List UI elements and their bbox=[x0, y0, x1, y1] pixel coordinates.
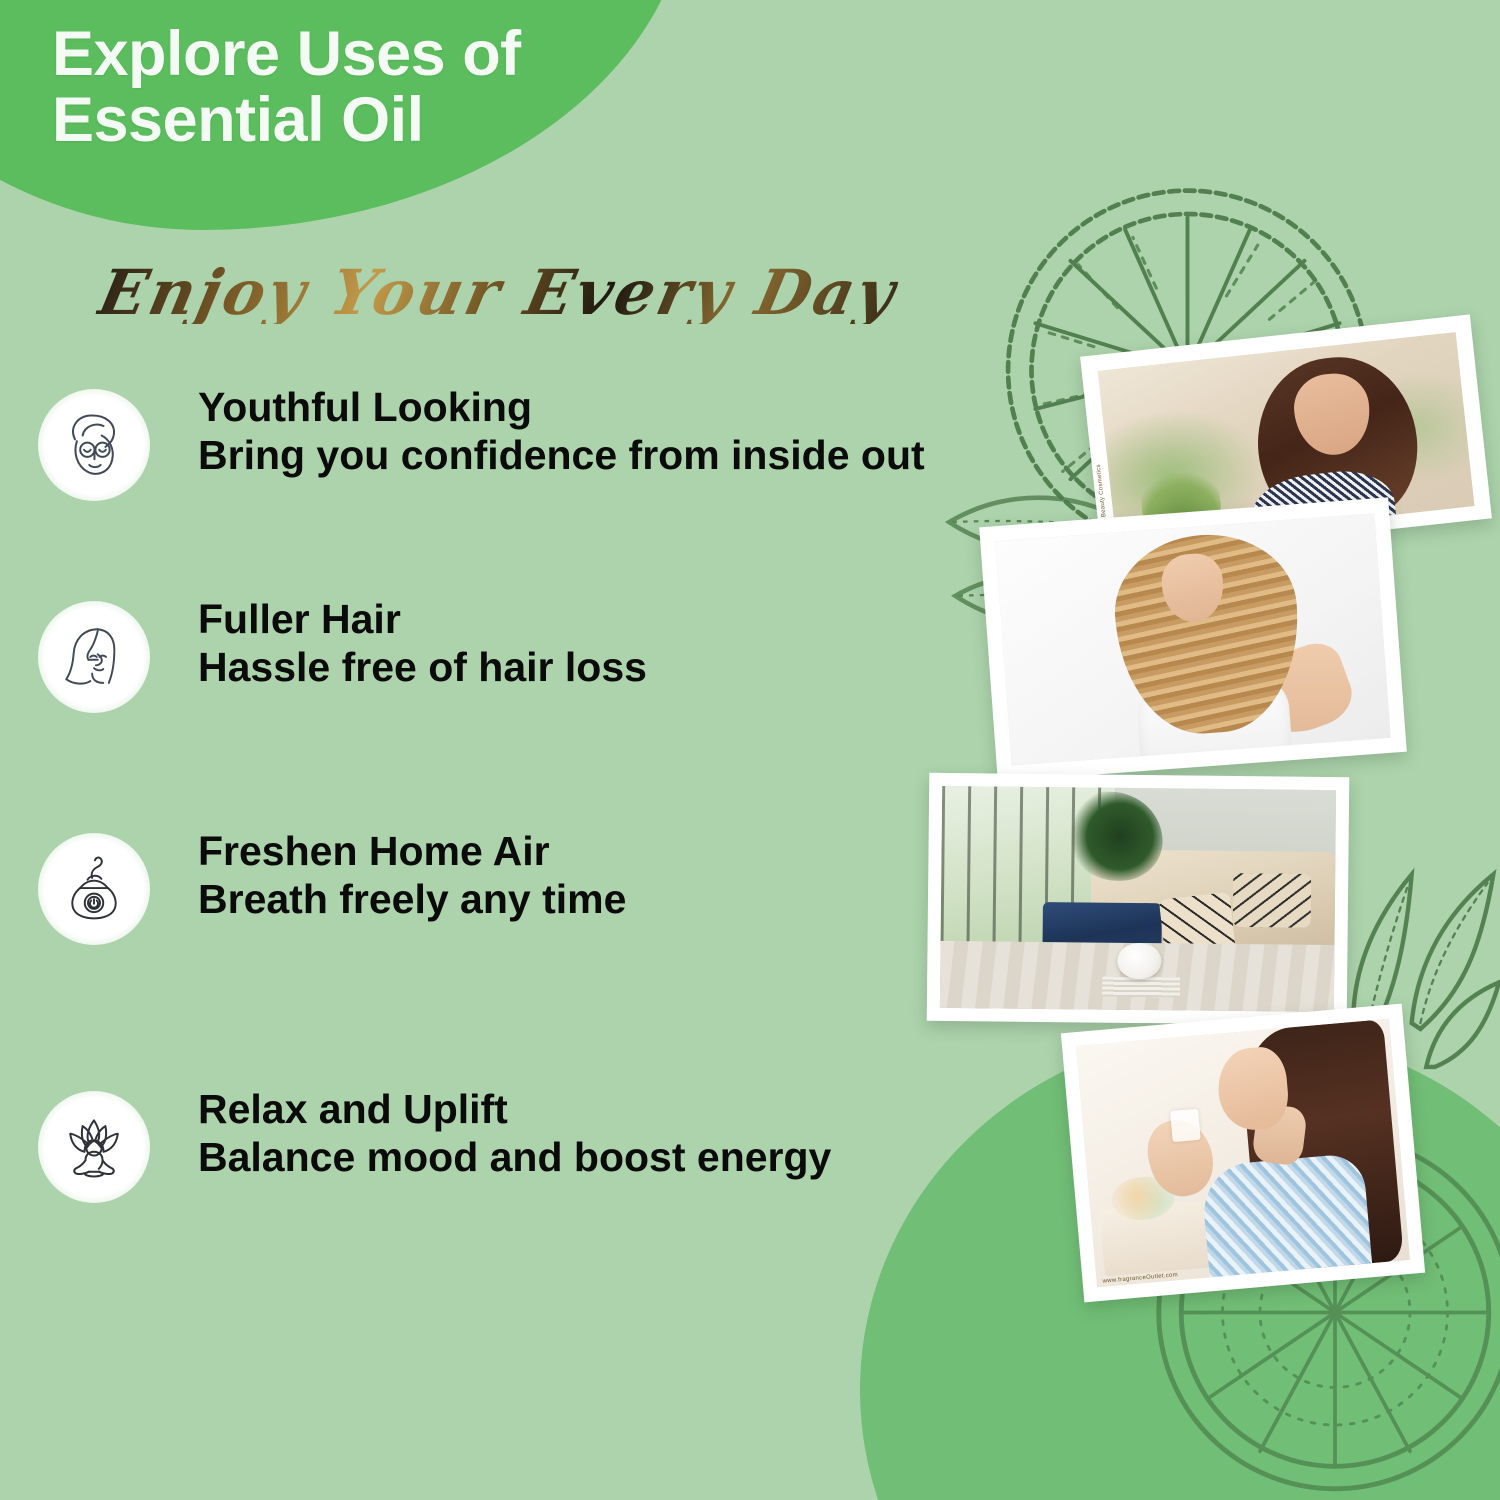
feature-title: Fuller Hair bbox=[198, 595, 647, 643]
long-hair-profile-icon bbox=[38, 601, 150, 713]
feature-item-freshen-home-air: Freshen Home Air Breath freely any time bbox=[0, 819, 1060, 1077]
feature-title: Relax and Uplift bbox=[198, 1085, 831, 1133]
face-mask-icon bbox=[38, 389, 150, 501]
feature-text-fuller-hair: Fuller Hair Hassle free of hair loss bbox=[198, 595, 647, 692]
feature-list: Youthful Looking Bring you confidence fr… bbox=[0, 375, 1060, 1309]
feature-title: Freshen Home Air bbox=[198, 827, 626, 875]
lotus-meditation-icon bbox=[38, 1091, 150, 1203]
feature-subtitle: Balance mood and boost energy bbox=[198, 1133, 831, 1181]
feature-text-relax-and-uplift: Relax and Uplift Balance mood and boost … bbox=[198, 1085, 831, 1182]
feature-item-fuller-hair: Fuller Hair Hassle free of hair loss bbox=[0, 587, 1060, 819]
page-title-line-2: Essential Oil bbox=[52, 88, 521, 154]
feature-text-freshen-home-air: Freshen Home Air Breath freely any time bbox=[198, 827, 626, 924]
feature-title: Youthful Looking bbox=[198, 383, 925, 431]
feature-text-youthful-looking: Youthful Looking Bring you confidence fr… bbox=[198, 383, 925, 480]
page-title-line-1: Explore Uses of bbox=[52, 22, 521, 88]
feature-subtitle: Bring you confidence from inside out bbox=[198, 431, 925, 479]
photo-perfume-woman: www.fragranceOutlet.com bbox=[1061, 1004, 1425, 1303]
feature-subtitle: Hassle free of hair loss bbox=[198, 643, 647, 691]
page-title: Explore Uses of Essential Oil bbox=[52, 22, 521, 153]
feature-item-relax-and-uplift: Relax and Uplift Balance mood and boost … bbox=[0, 1077, 1060, 1309]
poster-root: Explore Uses of Essential Oil Enjoy Your… bbox=[0, 0, 1500, 1500]
aroma-diffuser-icon bbox=[38, 833, 150, 945]
tagline-script: Enjoy Your Every Day bbox=[93, 262, 902, 324]
photo-perfume-woman-image bbox=[1076, 1019, 1410, 1287]
feature-subtitle: Breath freely any time bbox=[198, 875, 626, 923]
feature-item-youthful-looking: Youthful Looking Bring you confidence fr… bbox=[0, 375, 1060, 587]
